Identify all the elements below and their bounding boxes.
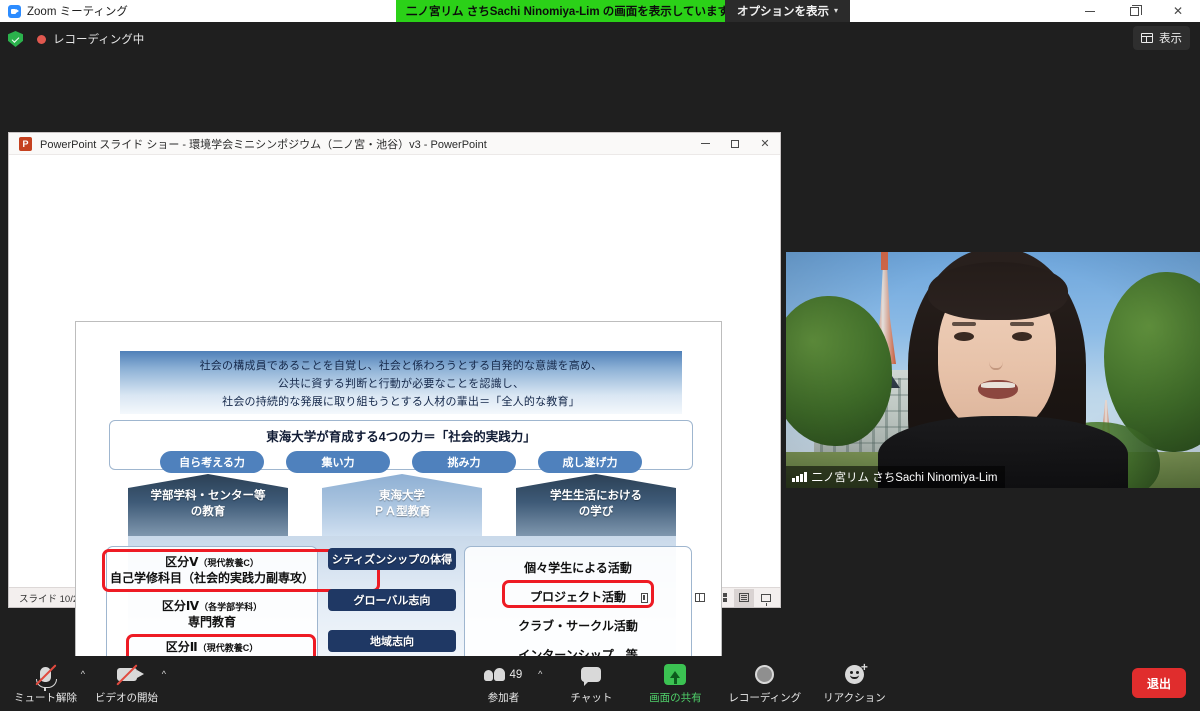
- close-button[interactable]: ✕: [1156, 0, 1200, 22]
- left-column-panel: 区分Ⅴ（現代教養C） 自己学修科目（社会的実践力副専攻） 区分Ⅳ（各学部学科） …: [106, 546, 318, 668]
- zoom-status-strip: レコーディング中 表示: [0, 22, 1200, 56]
- record-icon: [755, 663, 774, 687]
- minimize-icon: [701, 143, 710, 144]
- slide-canvas: 社会の構成員であることを自覚し、社会と係わろうとする自発的な意識を高め、 公共に…: [75, 321, 722, 711]
- column-header-3-line1: 学生生活における: [550, 489, 642, 505]
- share-screen-button[interactable]: 画面の共有: [644, 659, 706, 709]
- normal-view-icon: [695, 593, 705, 602]
- powerpoint-title-bar: PowerPoint スライド ショー - 環境学会ミニシンポジウム（二ノ宮・池…: [9, 133, 780, 155]
- left-item-1-sub: 自己学修科目（社会的実践力副専攻）: [110, 571, 314, 587]
- column-header-2: 東海大学 ＰＡ型教育: [322, 474, 482, 536]
- camera-off-icon: [117, 663, 137, 687]
- screen-share-banner-text: 二ノ宮リム さちSachi Ninomiya-Lim の画面を表示しています: [406, 3, 729, 19]
- power-pill-4: 成し遂げ力: [538, 451, 642, 473]
- column-header-2-line1: 東海大学: [379, 489, 425, 505]
- column-header-1: 学部学科・センター等 の教育: [128, 474, 288, 536]
- power-pill-1: 自ら考える力: [160, 451, 264, 473]
- microphone-muted-icon: [40, 663, 51, 687]
- restore-icon: [1130, 7, 1139, 16]
- participant-name-badge: 二ノ宮リム さちSachi Ninomiya-Lim: [786, 466, 1005, 488]
- chat-button-label: チャット: [570, 690, 612, 705]
- left-item-2-note: （各学部学科）: [199, 602, 262, 612]
- slide-headline-text: 東海大学が育成する4つの力＝「社会的実践力」: [266, 426, 535, 445]
- mission-line-3: 社会の持続的な発展に取り組もうとする人材の輩出＝「全人的な教育」: [222, 393, 580, 409]
- minimize-button[interactable]: [1068, 0, 1112, 22]
- maximize-icon: [731, 140, 739, 148]
- mute-button-label: ミュート解除: [14, 690, 77, 705]
- zoom-meeting-window: Zoom ミーティング 二ノ宮リム さちSachi Ninomiya-Lim の…: [0, 0, 1200, 711]
- left-item-2: 区分Ⅳ（各学部学科） 専門教育: [107, 599, 317, 630]
- column-header-3: 学生生活における の学び: [516, 474, 676, 536]
- column-header-1-line1: 学部学科・センター等: [151, 489, 266, 505]
- reactions-button-label: リアクション: [823, 690, 885, 705]
- right-item-2: プロジェクト活動: [465, 588, 691, 605]
- powerpoint-window-controls: ✕: [690, 133, 780, 155]
- participants-button-label: 参加者: [488, 690, 520, 705]
- screen-share-banner: 二ノ宮リム さちSachi Ninomiya-Lim の画面を表示しています: [396, 0, 739, 22]
- participants-options-chevron-icon[interactable]: ^: [538, 669, 542, 679]
- powerpoint-maximize-button[interactable]: [720, 133, 750, 155]
- column-header-3-line2: の学び: [579, 505, 614, 521]
- slideshow-button[interactable]: [756, 589, 776, 607]
- center-item-1: シティズンシップの体得: [328, 548, 456, 570]
- audio-options-chevron-icon[interactable]: ^: [81, 669, 85, 679]
- minimize-icon: [1085, 11, 1095, 12]
- powerpoint-close-button[interactable]: ✕: [750, 133, 780, 155]
- shared-powerpoint-window: PowerPoint スライド ショー - 環境学会ミニシンポジウム（二ノ宮・池…: [8, 132, 781, 608]
- close-icon: ✕: [1173, 4, 1183, 18]
- center-column-panel: シティズンシップの体得 グローバル志向 地域志向: [328, 548, 456, 671]
- mission-line-2: 公共に資する判断と行動が必要なことを認識し、: [278, 375, 524, 391]
- zoom-logo-icon: [8, 5, 21, 18]
- mission-line-1: 社会の構成員であることを自覚し、社会と係わろうとする自発的な意識を高め、: [200, 357, 603, 373]
- chat-icon: [581, 663, 601, 687]
- maximize-button[interactable]: [1112, 0, 1156, 22]
- powerpoint-canvas: 社会の構成員であることを自覚し、社会と係わろうとする自発的な意識を高め、 公共に…: [9, 155, 780, 587]
- left-item-3-title: 区分Ⅱ: [166, 640, 198, 654]
- zoom-bottom-toolbar: ミュート解除 ^ ビデオの開始 ^ 49 参加者 ^ チャット: [0, 656, 1200, 711]
- view-layout-button[interactable]: 表示: [1133, 26, 1190, 50]
- mute-button[interactable]: ミュート解除 ^: [14, 659, 77, 709]
- video-vignette: [786, 252, 1200, 488]
- start-video-button-label: ビデオの開始: [95, 690, 158, 705]
- zoom-app-title: Zoom ミーティング: [27, 3, 128, 19]
- right-column-panel: 個々学生による活動 プロジェクト活動 クラブ・サークル活動 インターンシップ 等: [464, 546, 692, 668]
- encryption-shield-icon[interactable]: [8, 31, 23, 47]
- participant-name-label: 二ノ宮リム さちSachi Ninomiya-Lim: [812, 469, 998, 485]
- show-options-label: オプションを表示: [737, 3, 829, 19]
- leave-meeting-label: 退出: [1147, 675, 1171, 692]
- zoom-title-bar: Zoom ミーティング 二ノ宮リム さちSachi Ninomiya-Lim の…: [0, 0, 1200, 22]
- center-item-3: 地域志向: [328, 630, 456, 652]
- grid-view-icon: [1141, 33, 1153, 43]
- current-slide-icon: [641, 593, 648, 603]
- left-item-1: 区分Ⅴ（現代教養C） 自己学修科目（社会的実践力副専攻）: [107, 555, 317, 586]
- window-controls: ✕: [1068, 0, 1200, 22]
- center-item-2: グローバル志向: [328, 589, 456, 611]
- four-powers-row: 自ら考える力 集い力 挑み力 成し遂げ力: [160, 451, 642, 473]
- column-header-2-line2: ＰＡ型教育: [373, 505, 431, 521]
- left-item-3-note: （現代教養C）: [198, 643, 259, 653]
- slideshow-icon: [761, 594, 771, 602]
- powerpoint-app-icon: [19, 137, 32, 151]
- start-video-button[interactable]: ビデオの開始 ^: [95, 659, 158, 709]
- column-header-1-line2: の教育: [191, 505, 226, 521]
- share-screen-icon: [664, 663, 686, 687]
- zoom-brand: Zoom ミーティング: [0, 3, 128, 19]
- record-button-label: レコーディング: [728, 690, 801, 705]
- power-pill-2: 集い力: [286, 451, 390, 473]
- right-item-1: 個々学生による活動: [465, 559, 691, 576]
- close-icon: ✕: [760, 137, 769, 150]
- record-button[interactable]: レコーディング: [728, 659, 801, 709]
- powerpoint-title: PowerPoint スライド ショー - 環境学会ミニシンポジウム（二ノ宮・池…: [40, 136, 487, 152]
- participants-icon: 49: [484, 663, 522, 687]
- participants-button[interactable]: 49 参加者 ^: [472, 659, 534, 709]
- reactions-icon: +: [845, 663, 864, 687]
- reactions-button[interactable]: + リアクション: [823, 659, 885, 709]
- slide-mission-block: 社会の構成員であることを自覚し、社会と係わろうとする自発的な意識を高め、 公共に…: [120, 351, 682, 414]
- slide-headline-box: 東海大学が育成する4つの力＝「社会的実践力」 自ら考える力 集い力 挑み力 成し…: [109, 420, 693, 470]
- recording-label: レコーディング中: [53, 31, 144, 47]
- left-item-1-note: （現代教養C）: [198, 558, 259, 568]
- share-screen-button-label: 画面の共有: [649, 690, 702, 705]
- column-headers-row: 学部学科・センター等 の教育 東海大学 ＰＡ型教育 学生生活における の学び: [128, 474, 676, 536]
- powerpoint-minimize-button[interactable]: [690, 133, 720, 155]
- right-item-3: クラブ・サークル活動: [465, 617, 691, 634]
- left-item-2-sub: 専門教育: [188, 615, 236, 631]
- view-layout-label: 表示: [1159, 30, 1182, 46]
- leave-meeting-button[interactable]: 退出: [1132, 668, 1186, 698]
- show-options-button[interactable]: オプションを表示 ▾: [725, 0, 850, 22]
- reading-view-button[interactable]: [734, 589, 754, 607]
- signal-strength-icon: [792, 472, 807, 482]
- recording-indicator-icon[interactable]: [37, 35, 46, 44]
- power-pill-3: 挑み力: [412, 451, 516, 473]
- chat-button[interactable]: チャット: [560, 659, 622, 709]
- reading-view-icon: [739, 593, 749, 602]
- chevron-down-icon: ▾: [834, 7, 838, 15]
- slide-number-indicator: スライド 10/28: [19, 591, 83, 605]
- video-options-chevron-icon[interactable]: ^: [162, 669, 166, 679]
- participant-video-tile[interactable]: 二ノ宮リム さちSachi Ninomiya-Lim: [786, 252, 1200, 488]
- left-item-1-title: 区分Ⅴ: [165, 555, 198, 569]
- participants-count: 49: [509, 669, 522, 681]
- left-item-2-title: 区分Ⅳ: [162, 599, 199, 613]
